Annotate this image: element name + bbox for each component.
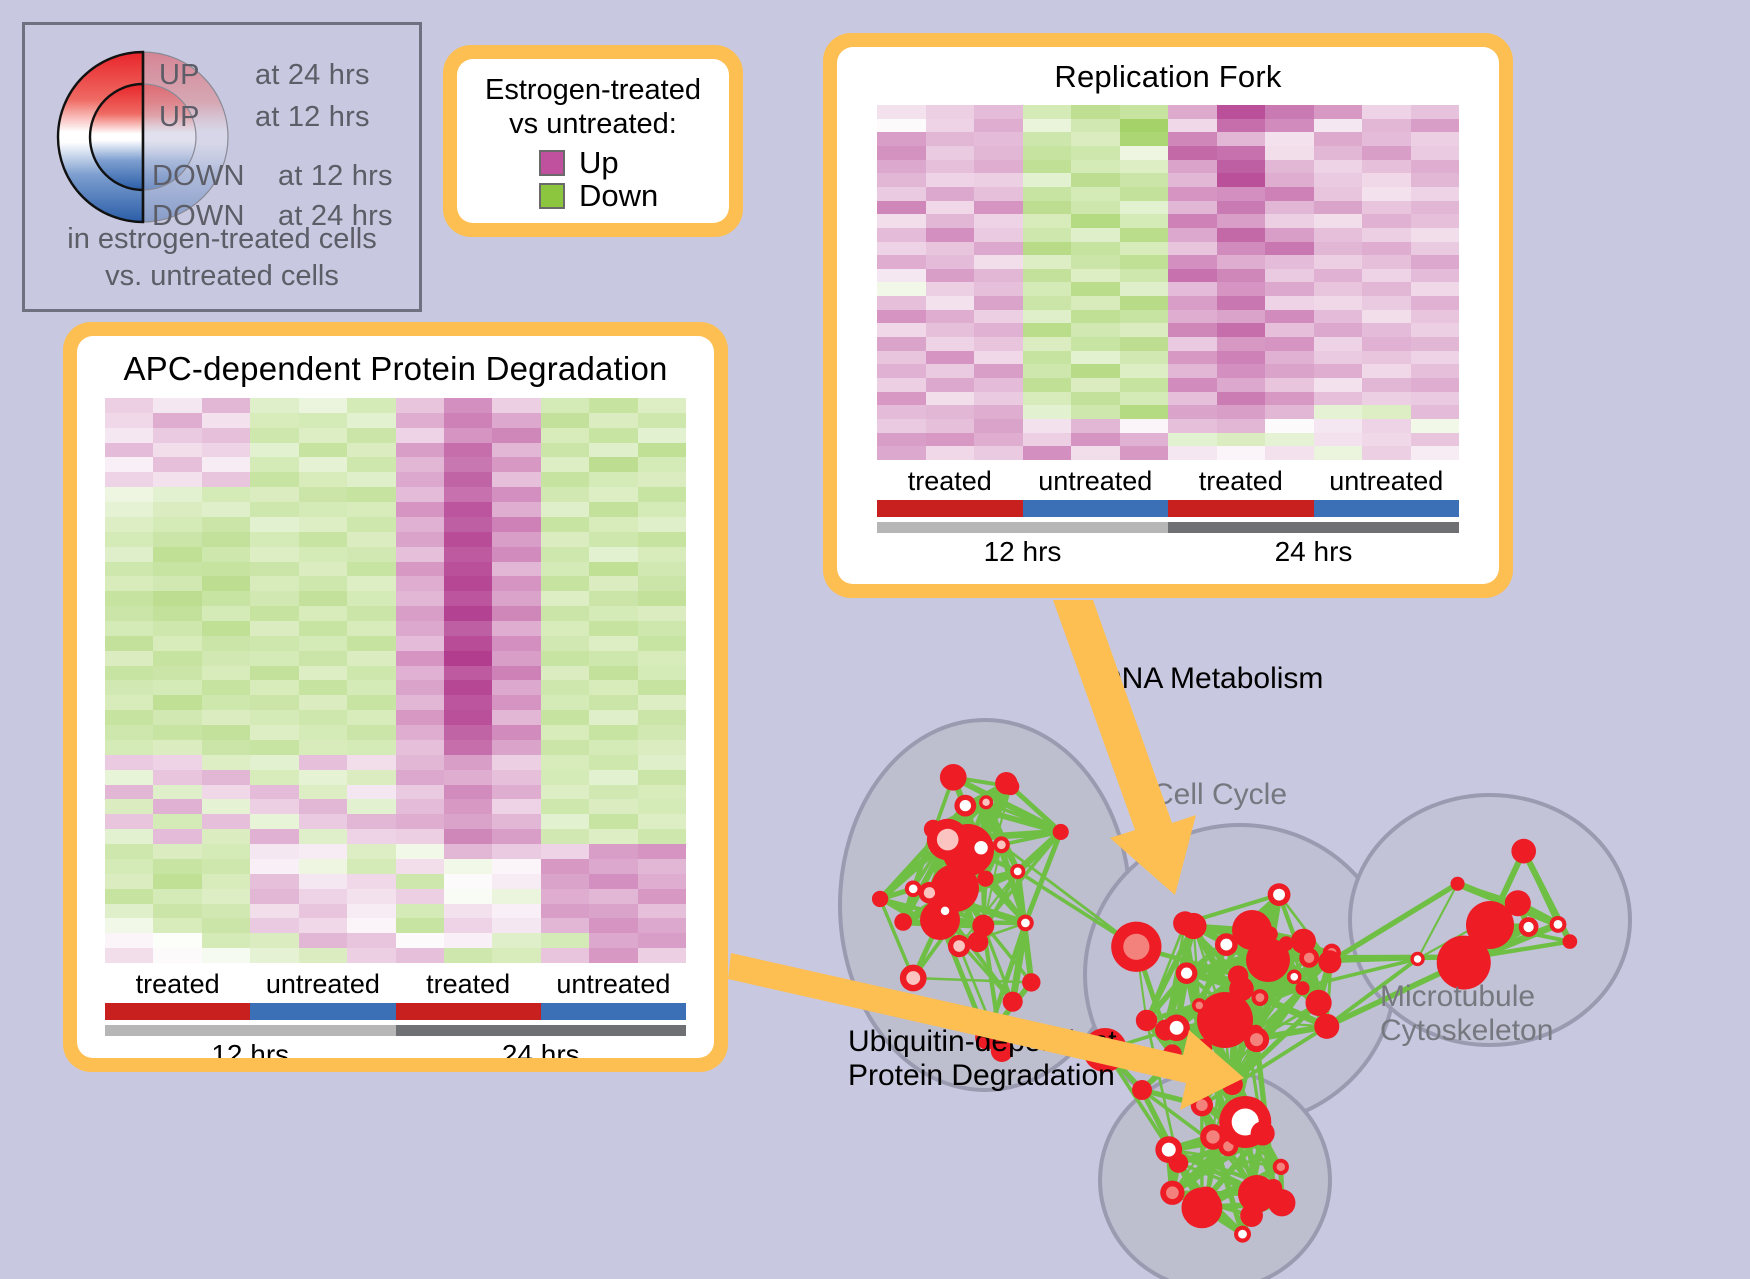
network-node[interactable] bbox=[1181, 1187, 1222, 1228]
network-node-core bbox=[960, 800, 971, 811]
heatmap-cell bbox=[1314, 132, 1363, 146]
heatmap-cell bbox=[299, 725, 347, 740]
heatmap-cell bbox=[974, 364, 1023, 378]
heatmap-cell bbox=[202, 443, 250, 458]
heatmap-cell bbox=[347, 814, 395, 829]
heatmap-cell bbox=[926, 160, 975, 174]
heatmap-cell bbox=[974, 323, 1023, 337]
heatmap-cell bbox=[1314, 160, 1363, 174]
network-node[interactable] bbox=[1314, 1014, 1339, 1039]
heatmap-cell bbox=[589, 487, 637, 502]
heatmap-cell bbox=[1314, 214, 1363, 228]
heatmap-cell bbox=[589, 680, 637, 695]
heatmap-cell bbox=[153, 918, 201, 933]
network-node-core bbox=[1554, 920, 1563, 929]
heatmap-cell bbox=[444, 680, 492, 695]
network-node[interactable] bbox=[1251, 1121, 1275, 1145]
network-node[interactable] bbox=[1451, 877, 1465, 891]
heatmap-cell bbox=[347, 695, 395, 710]
heatmap-cell bbox=[974, 282, 1023, 296]
heatmap-cell bbox=[202, 547, 250, 562]
heatmap-cell bbox=[153, 591, 201, 606]
heatmap-cell bbox=[105, 799, 153, 814]
heatmap-cell bbox=[444, 487, 492, 502]
heatmap-cell bbox=[347, 844, 395, 859]
heatmap-cell bbox=[492, 814, 540, 829]
heatmap-cell bbox=[299, 814, 347, 829]
heatmap-cell bbox=[153, 844, 201, 859]
heatmap-cell bbox=[153, 457, 201, 472]
heatmap-cell bbox=[589, 443, 637, 458]
heatmap-cell bbox=[1120, 119, 1169, 133]
heatmap-cell bbox=[347, 799, 395, 814]
heatmap-cell bbox=[877, 282, 926, 296]
heatmap-cell bbox=[250, 680, 298, 695]
heatmap-cell bbox=[250, 740, 298, 755]
sample-label: untreated bbox=[1023, 466, 1169, 497]
heatmap-cell bbox=[877, 160, 926, 174]
heatmap-cell bbox=[347, 889, 395, 904]
heatmap-cell bbox=[541, 680, 589, 695]
condition-bar-segment bbox=[877, 500, 1023, 517]
heatmap-cell bbox=[877, 351, 926, 365]
network-node[interactable] bbox=[1511, 839, 1536, 864]
heatmap-cell bbox=[926, 132, 975, 146]
network-node[interactable] bbox=[1505, 890, 1531, 916]
heatmap-cell bbox=[877, 132, 926, 146]
legend-swatch-up-icon bbox=[539, 150, 565, 176]
heatmap-cell bbox=[105, 933, 153, 948]
heatmap-cell bbox=[1168, 282, 1217, 296]
heatmap-cell bbox=[1265, 392, 1314, 406]
network-node[interactable] bbox=[972, 915, 994, 937]
heatmap-cell bbox=[541, 918, 589, 933]
heatmap-cell bbox=[1265, 132, 1314, 146]
heatmap-cell bbox=[926, 228, 975, 242]
heatmap-cell bbox=[974, 405, 1023, 419]
heatmap-cell bbox=[1168, 296, 1217, 310]
heatmap-cell bbox=[589, 606, 637, 621]
heatmap-cell bbox=[541, 844, 589, 859]
legend-panel: Estrogen-treated vs untreated: Up Down bbox=[443, 45, 743, 237]
cluster-label-cell-cycle: Cell Cycle bbox=[1152, 778, 1287, 812]
heatmap-cell bbox=[444, 457, 492, 472]
network-node[interactable] bbox=[872, 891, 888, 907]
heatmap-cell bbox=[250, 443, 298, 458]
heatmap-cell bbox=[541, 398, 589, 413]
heatmap-cell bbox=[974, 296, 1023, 310]
condition-bar-segment bbox=[105, 1003, 250, 1020]
heatmap-cell bbox=[396, 918, 444, 933]
key-time-up-12: at 12 hrs bbox=[255, 101, 370, 134]
heatmap-cell bbox=[1314, 282, 1363, 296]
key-caption: in estrogen-treated cells vs. untreated … bbox=[25, 221, 419, 295]
heatmap-cell bbox=[250, 695, 298, 710]
network-node[interactable] bbox=[1318, 950, 1341, 973]
heatmap-cell bbox=[877, 323, 926, 337]
heatmap-cell bbox=[492, 517, 540, 532]
cluster-label-dna-metabolism: DNA Metabolism bbox=[1100, 662, 1323, 696]
heatmap-cell bbox=[153, 948, 201, 963]
network-node[interactable] bbox=[1562, 934, 1577, 949]
heatmap-cell bbox=[638, 562, 686, 577]
heatmap-cell bbox=[926, 105, 975, 119]
heatmap-cell bbox=[589, 457, 637, 472]
heatmap-cell bbox=[202, 695, 250, 710]
apc-degradation-panel: APC-dependent Protein Degradation treate… bbox=[63, 322, 728, 1072]
heatmap-cell bbox=[1120, 351, 1169, 365]
heatmap-cell bbox=[105, 904, 153, 919]
replication-fork-time-labels: 12 hrs24 hrs bbox=[877, 536, 1459, 568]
heatmap-cell bbox=[396, 829, 444, 844]
network-node[interactable] bbox=[1180, 913, 1206, 939]
heatmap-cell bbox=[250, 918, 298, 933]
network-node-core bbox=[1523, 922, 1533, 932]
condition-bar-segment bbox=[396, 1003, 541, 1020]
network-node-core bbox=[1220, 939, 1232, 951]
heatmap-cell bbox=[202, 680, 250, 695]
heatmap-cell bbox=[202, 576, 250, 591]
heatmap-cell bbox=[974, 173, 1023, 187]
sample-label: treated bbox=[105, 969, 250, 1000]
network-node[interactable] bbox=[1132, 1080, 1152, 1100]
heatmap-cell bbox=[541, 904, 589, 919]
heatmap-cell bbox=[105, 576, 153, 591]
heatmap-cell bbox=[1265, 446, 1314, 460]
heatmap-cell bbox=[1120, 323, 1169, 337]
heatmap-cell bbox=[105, 591, 153, 606]
heatmap-cell bbox=[153, 472, 201, 487]
heatmap-cell bbox=[202, 398, 250, 413]
heatmap-cell bbox=[1265, 433, 1314, 447]
network-node-core bbox=[1162, 1143, 1176, 1157]
heatmap-cell bbox=[153, 487, 201, 502]
heatmap-cell bbox=[153, 859, 201, 874]
heatmap-cell bbox=[1023, 105, 1072, 119]
heatmap-cell bbox=[299, 398, 347, 413]
heatmap-cell bbox=[1168, 160, 1217, 174]
network-node-core bbox=[924, 887, 935, 898]
network-node[interactable] bbox=[1306, 990, 1332, 1016]
replication-fork-title: Replication Fork bbox=[837, 59, 1499, 95]
heatmap-cell bbox=[1217, 282, 1266, 296]
heatmap-cell bbox=[444, 547, 492, 562]
heatmap-cell bbox=[638, 844, 686, 859]
heatmap-cell bbox=[1314, 242, 1363, 256]
heatmap-cell bbox=[1217, 132, 1266, 146]
heatmap-cell bbox=[1071, 119, 1120, 133]
heatmap-cell bbox=[541, 799, 589, 814]
heatmap-cell bbox=[299, 547, 347, 562]
heatmap-cell bbox=[250, 948, 298, 963]
network-node-core bbox=[982, 799, 989, 806]
heatmap-cell bbox=[877, 187, 926, 201]
heatmap-cell bbox=[926, 187, 975, 201]
network-node-core bbox=[997, 840, 1006, 849]
key-caption-line1: in estrogen-treated cells bbox=[25, 221, 419, 258]
heatmap-cell bbox=[250, 532, 298, 547]
heatmap-cell bbox=[396, 755, 444, 770]
heatmap-cell bbox=[347, 859, 395, 874]
heatmap-cell bbox=[1217, 228, 1266, 242]
heatmap-cell bbox=[396, 874, 444, 889]
heatmap-cell bbox=[638, 740, 686, 755]
heatmap-cell bbox=[250, 413, 298, 428]
heatmap-cell bbox=[589, 889, 637, 904]
heatmap-cell bbox=[1023, 255, 1072, 269]
heatmap-cell bbox=[974, 119, 1023, 133]
network-node[interactable] bbox=[1222, 1074, 1243, 1095]
heatmap-cell bbox=[396, 576, 444, 591]
replication-fork-condition-bar bbox=[877, 500, 1459, 517]
heatmap-cell bbox=[202, 814, 250, 829]
heatmap-cell bbox=[974, 419, 1023, 433]
heatmap-cell bbox=[105, 547, 153, 562]
heatmap-cell bbox=[541, 814, 589, 829]
sample-label: treated bbox=[396, 969, 541, 1000]
heatmap-cell bbox=[1168, 337, 1217, 351]
replication-fork-heatmap bbox=[877, 105, 1459, 460]
network-node[interactable] bbox=[894, 913, 912, 931]
heatmap-cell bbox=[105, 710, 153, 725]
network-node[interactable] bbox=[1254, 950, 1271, 967]
heatmap-cell bbox=[153, 666, 201, 681]
heatmap-cell bbox=[299, 785, 347, 800]
sample-label: treated bbox=[1168, 466, 1314, 497]
heatmap-cell bbox=[202, 428, 250, 443]
heatmap-cell bbox=[1411, 105, 1460, 119]
heatmap-cell bbox=[250, 591, 298, 606]
heatmap-cell bbox=[638, 502, 686, 517]
heatmap-cell bbox=[589, 413, 637, 428]
network-node[interactable] bbox=[1022, 973, 1040, 991]
heatmap-cell bbox=[1168, 323, 1217, 337]
heatmap-cell bbox=[299, 487, 347, 502]
heatmap-cell bbox=[1217, 255, 1266, 269]
heatmap-cell bbox=[1217, 351, 1266, 365]
heatmap-cell bbox=[105, 443, 153, 458]
heatmap-cell bbox=[444, 517, 492, 532]
heatmap-cell bbox=[105, 695, 153, 710]
network-node-core bbox=[1304, 953, 1314, 963]
network-node[interactable] bbox=[1136, 1010, 1157, 1031]
heatmap-cell bbox=[105, 398, 153, 413]
heatmap-cell bbox=[250, 472, 298, 487]
heatmap-cell bbox=[638, 933, 686, 948]
heatmap-cell bbox=[589, 472, 637, 487]
heatmap-cell bbox=[926, 419, 975, 433]
condition-bar-segment bbox=[1023, 500, 1169, 517]
heatmap-cell bbox=[444, 472, 492, 487]
network-node[interactable] bbox=[940, 764, 967, 791]
heatmap-cell bbox=[1362, 214, 1411, 228]
sample-label: untreated bbox=[1314, 466, 1460, 497]
heatmap-cell bbox=[492, 948, 540, 963]
heatmap-cell bbox=[638, 428, 686, 443]
network-node[interactable] bbox=[1238, 1175, 1276, 1213]
heatmap-cell bbox=[589, 666, 637, 681]
network-node[interactable] bbox=[1228, 965, 1248, 985]
heatmap-cell bbox=[589, 799, 637, 814]
heatmap-cell bbox=[589, 874, 637, 889]
heatmap-cell bbox=[589, 918, 637, 933]
heatmap-cell bbox=[926, 337, 975, 351]
heatmap-cell bbox=[347, 487, 395, 502]
heatmap-cell bbox=[638, 576, 686, 591]
heatmap-cell bbox=[926, 214, 975, 228]
network-node[interactable] bbox=[1163, 1044, 1182, 1063]
heatmap-cell bbox=[492, 889, 540, 904]
heatmap-cell bbox=[1120, 446, 1169, 460]
heatmap-cell bbox=[1023, 160, 1072, 174]
heatmap-cell bbox=[1168, 446, 1217, 460]
heatmap-cell bbox=[299, 829, 347, 844]
heatmap-cell bbox=[638, 666, 686, 681]
heatmap-cell bbox=[589, 576, 637, 591]
heatmap-cell bbox=[202, 889, 250, 904]
heatmap-cell bbox=[926, 310, 975, 324]
heatmap-cell bbox=[1265, 310, 1314, 324]
legend-item-up: Up bbox=[539, 147, 713, 178]
heatmap-cell bbox=[1168, 214, 1217, 228]
heatmap-cell bbox=[105, 502, 153, 517]
heatmap-cell bbox=[492, 532, 540, 547]
heatmap-cell bbox=[444, 636, 492, 651]
apc-degradation-heatmap bbox=[105, 398, 686, 963]
heatmap-cell bbox=[105, 428, 153, 443]
heatmap-cell bbox=[444, 740, 492, 755]
heatmap-cell bbox=[1314, 433, 1363, 447]
heatmap-cell bbox=[1120, 364, 1169, 378]
heatmap-cell bbox=[1411, 364, 1460, 378]
heatmap-cell bbox=[153, 933, 201, 948]
heatmap-cell bbox=[877, 173, 926, 187]
heatmap-cell bbox=[589, 844, 637, 859]
heatmap-cell bbox=[347, 413, 395, 428]
heatmap-cell bbox=[1071, 214, 1120, 228]
network-node[interactable] bbox=[1193, 1039, 1212, 1058]
heatmap-cell bbox=[638, 636, 686, 651]
heatmap-cell bbox=[299, 680, 347, 695]
heatmap-cell bbox=[1411, 323, 1460, 337]
heatmap-cell bbox=[444, 814, 492, 829]
heatmap-cell bbox=[541, 874, 589, 889]
heatmap-cell bbox=[638, 472, 686, 487]
heatmap-cell bbox=[541, 428, 589, 443]
heatmap-cell bbox=[396, 904, 444, 919]
heatmap-cell bbox=[926, 201, 975, 215]
heatmap-cell bbox=[250, 933, 298, 948]
heatmap-cell bbox=[347, 636, 395, 651]
heatmap-cell bbox=[396, 472, 444, 487]
heatmap-cell bbox=[589, 591, 637, 606]
network-node[interactable] bbox=[1053, 824, 1069, 840]
network-node[interactable] bbox=[977, 871, 993, 887]
heatmap-cell bbox=[250, 651, 298, 666]
time-bar-segment bbox=[877, 522, 1168, 533]
heatmap-cell bbox=[1071, 364, 1120, 378]
heatmap-cell bbox=[1362, 228, 1411, 242]
cluster-label-microtubule-cytoskeleton: Microtubule Cytoskeleton bbox=[1380, 980, 1553, 1047]
heatmap-cell bbox=[638, 904, 686, 919]
network-node[interactable] bbox=[1296, 981, 1310, 995]
heatmap-cell bbox=[1411, 269, 1460, 283]
heatmap-cell bbox=[396, 457, 444, 472]
heatmap-cell bbox=[347, 472, 395, 487]
heatmap-cell bbox=[347, 680, 395, 695]
heatmap-cell bbox=[250, 889, 298, 904]
heatmap-cell bbox=[347, 651, 395, 666]
heatmap-cell bbox=[1314, 323, 1363, 337]
heatmap-cell bbox=[105, 666, 153, 681]
heatmap-cell bbox=[1023, 282, 1072, 296]
heatmap-cell bbox=[492, 859, 540, 874]
heatmap-cell bbox=[1411, 201, 1460, 215]
heatmap-cell bbox=[492, 695, 540, 710]
heatmap-cell bbox=[202, 740, 250, 755]
heatmap-cell bbox=[974, 228, 1023, 242]
heatmap-cell bbox=[877, 310, 926, 324]
heatmap-cell bbox=[1023, 337, 1072, 351]
heatmap-cell bbox=[396, 889, 444, 904]
heatmap-cell bbox=[1314, 173, 1363, 187]
heatmap-cell bbox=[1071, 187, 1120, 201]
heatmap-cell bbox=[347, 904, 395, 919]
heatmap-cell bbox=[638, 710, 686, 725]
heatmap-cell bbox=[1217, 242, 1266, 256]
heatmap-cell bbox=[1314, 228, 1363, 242]
heatmap-cell bbox=[589, 814, 637, 829]
network-node[interactable] bbox=[1003, 992, 1023, 1012]
heatmap-cell bbox=[202, 502, 250, 517]
heatmap-cell bbox=[492, 606, 540, 621]
network-node[interactable] bbox=[1291, 929, 1316, 954]
heatmap-cell bbox=[1071, 160, 1120, 174]
heatmap-cell bbox=[1217, 296, 1266, 310]
legend-item-down: Down bbox=[539, 180, 713, 211]
heatmap-cell bbox=[153, 829, 201, 844]
heatmap-cell bbox=[974, 310, 1023, 324]
heatmap-cell bbox=[1362, 187, 1411, 201]
heatmap-cell bbox=[347, 918, 395, 933]
legend-items: Up Down bbox=[473, 147, 713, 211]
heatmap-cell bbox=[638, 859, 686, 874]
heatmap-cell bbox=[1071, 228, 1120, 242]
heatmap-cell bbox=[1265, 378, 1314, 392]
heatmap-cell bbox=[250, 428, 298, 443]
heatmap-cell bbox=[1168, 187, 1217, 201]
heatmap-cell bbox=[541, 517, 589, 532]
heatmap-cell bbox=[638, 457, 686, 472]
heatmap-cell bbox=[974, 269, 1023, 283]
heatmap-cell bbox=[1362, 446, 1411, 460]
heatmap-cell bbox=[1362, 255, 1411, 269]
heatmap-cell bbox=[299, 413, 347, 428]
heatmap-cell bbox=[299, 874, 347, 889]
heatmap-cell bbox=[1362, 419, 1411, 433]
sample-label: untreated bbox=[250, 969, 395, 1000]
heatmap-cell bbox=[541, 547, 589, 562]
network-node[interactable] bbox=[1002, 778, 1019, 795]
heatmap-cell bbox=[926, 446, 975, 460]
heatmap-cell bbox=[1411, 132, 1460, 146]
network-node[interactable] bbox=[1262, 926, 1278, 942]
heatmap-cell bbox=[396, 398, 444, 413]
heatmap-cell bbox=[1120, 173, 1169, 187]
heatmap-cell bbox=[202, 606, 250, 621]
heatmap-cell bbox=[1071, 146, 1120, 160]
heatmap-cell bbox=[1265, 242, 1314, 256]
